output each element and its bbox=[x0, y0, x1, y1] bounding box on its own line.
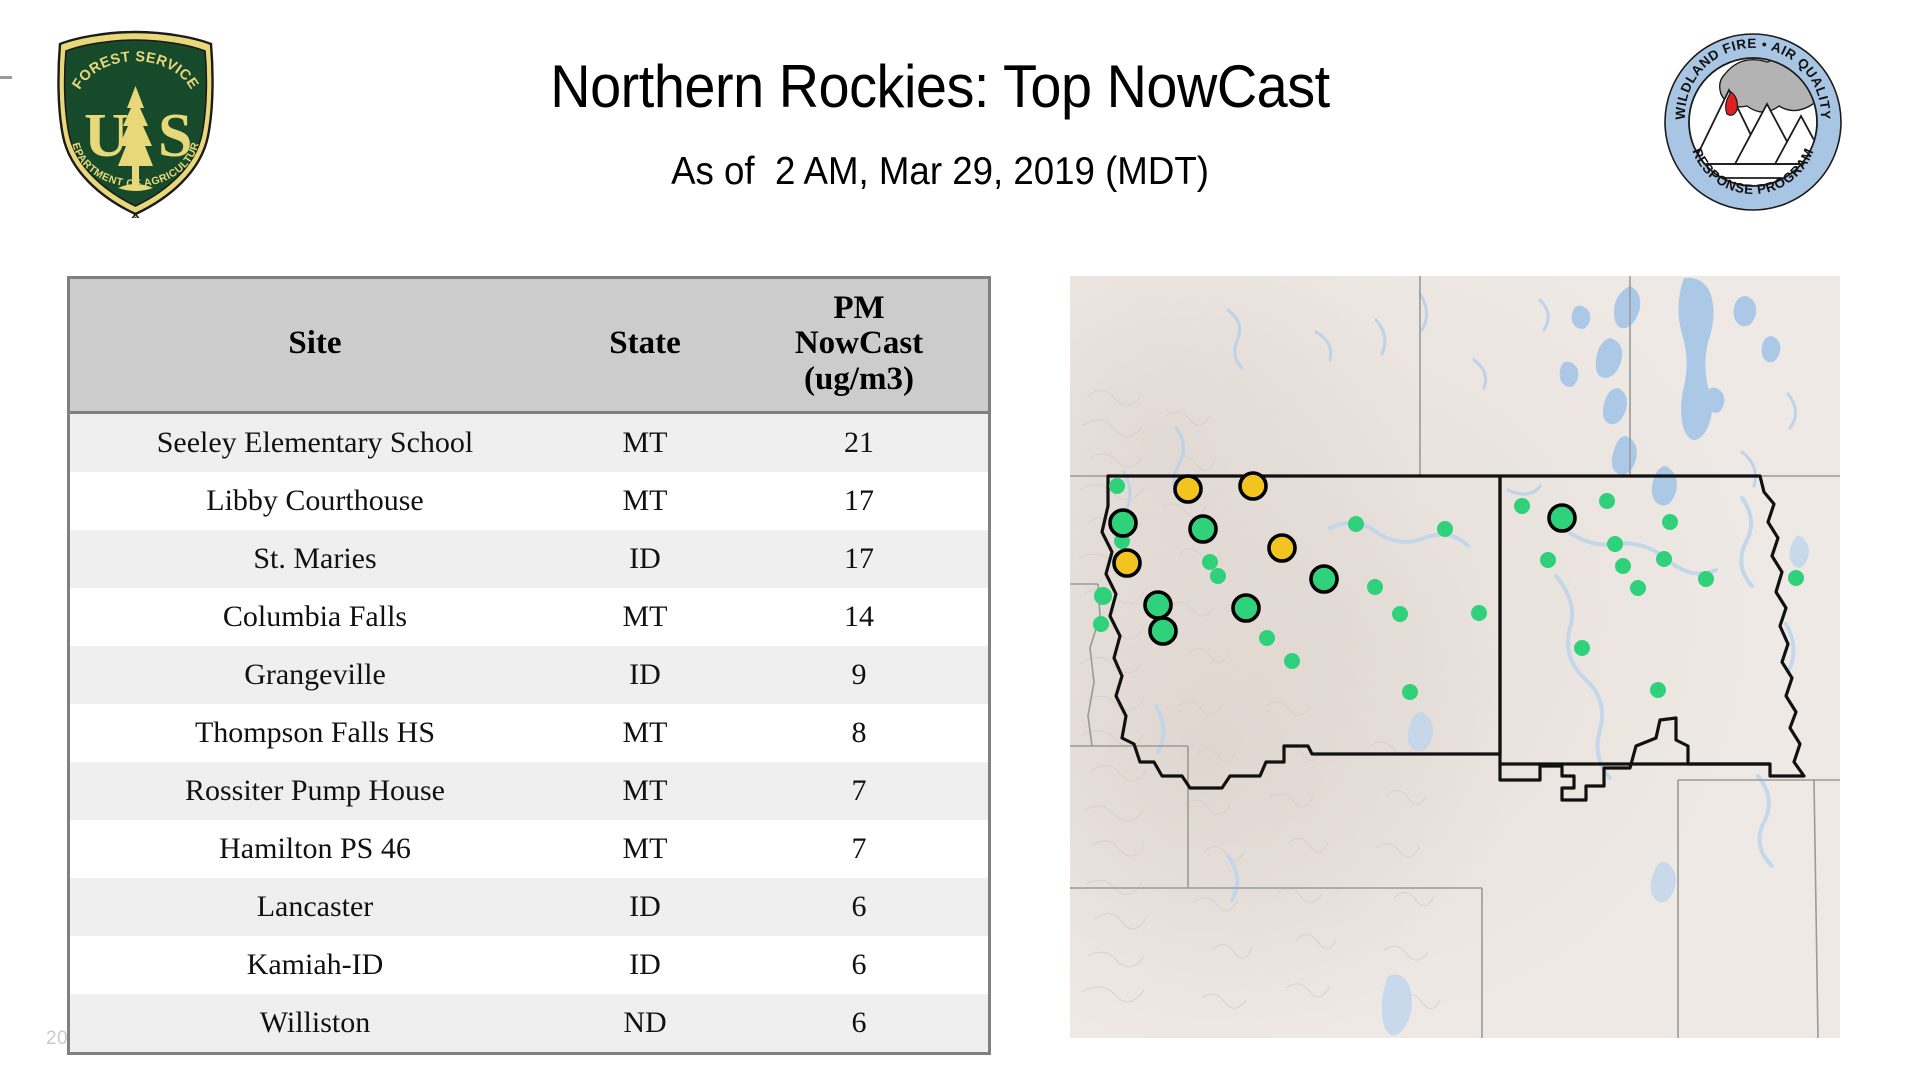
table-row: Thompson Falls HS MT 8 bbox=[70, 704, 988, 762]
cell-site: Libby Courthouse bbox=[70, 472, 560, 530]
cell-state: ID bbox=[560, 936, 730, 994]
page-subtitle: As of 2 AM, Mar 29, 2019 (MDT) bbox=[301, 150, 1579, 194]
edge-tick-mark bbox=[0, 76, 12, 79]
cell-pm: 6 bbox=[730, 936, 988, 994]
table-row: Williston ND 6 bbox=[70, 994, 988, 1052]
table-row: Seeley Elementary School MT 21 bbox=[70, 413, 988, 473]
cell-site: Lancaster bbox=[70, 878, 560, 936]
cell-site: Thompson Falls HS bbox=[70, 704, 560, 762]
table-body: Seeley Elementary School MT 21 Libby Cou… bbox=[70, 413, 988, 1053]
table-row: Columbia Falls MT 14 bbox=[70, 588, 988, 646]
table-row: Hamilton PS 46 MT 7 bbox=[70, 820, 988, 878]
table-header-row: Site State PM NowCast (ug/m3) bbox=[70, 279, 988, 413]
cell-state: MT bbox=[560, 413, 730, 473]
table-row: Rossiter Pump House MT 7 bbox=[70, 762, 988, 820]
table-row: Grangeville ID 9 bbox=[70, 646, 988, 704]
cell-state: ID bbox=[560, 878, 730, 936]
cell-pm: 7 bbox=[730, 820, 988, 878]
cell-state: MT bbox=[560, 820, 730, 878]
cell-pm: 14 bbox=[730, 588, 988, 646]
cell-site: Seeley Elementary School bbox=[70, 413, 560, 473]
cell-site: Williston bbox=[70, 994, 560, 1052]
pm-header-line-2: NowCast bbox=[730, 326, 988, 362]
wfaqrp-logo: WILDLAND FIRE • AIR QUALITY RESPONSE PRO… bbox=[1663, 32, 1843, 212]
cell-state: MT bbox=[560, 704, 730, 762]
column-header-state: State bbox=[560, 279, 730, 413]
cell-site: St. Maries bbox=[70, 530, 560, 588]
cell-pm: 21 bbox=[730, 413, 988, 473]
cell-state: MT bbox=[560, 588, 730, 646]
cell-site: Rossiter Pump House bbox=[70, 762, 560, 820]
cell-state: ID bbox=[560, 530, 730, 588]
cell-pm: 7 bbox=[730, 762, 988, 820]
cell-state: ID bbox=[560, 646, 730, 704]
table-row: Libby Courthouse MT 17 bbox=[70, 472, 988, 530]
pm-header-line-3: (ug/m3) bbox=[730, 362, 988, 398]
cell-site: Hamilton PS 46 bbox=[70, 820, 560, 878]
nowcast-table: Site State PM NowCast (ug/m3) Seeley Ele… bbox=[67, 276, 991, 1055]
pm-header-line-1: PM bbox=[730, 291, 988, 327]
cell-state: MT bbox=[560, 762, 730, 820]
cell-pm: 8 bbox=[730, 704, 988, 762]
table-row: St. Maries ID 17 bbox=[70, 530, 988, 588]
northern-rockies-monitor-map[interactable] bbox=[1070, 276, 1840, 1038]
table-row: Kamiah-ID ID 6 bbox=[70, 936, 988, 994]
column-header-pm-nowcast: PM NowCast (ug/m3) bbox=[730, 279, 988, 413]
forest-service-logo: FOREST SERVICE DEPARTMENT OF AGRICULTURE… bbox=[48, 28, 223, 218]
cell-state: MT bbox=[560, 472, 730, 530]
column-header-site: Site bbox=[70, 279, 560, 413]
cell-site: Kamiah-ID bbox=[70, 936, 560, 994]
svg-text:S: S bbox=[158, 102, 192, 170]
cell-pm: 17 bbox=[730, 530, 988, 588]
page-title: Northern Rockies: Top NowCast bbox=[308, 52, 1573, 121]
cell-pm: 6 bbox=[730, 994, 988, 1052]
slide-canvas: FOREST SERVICE DEPARTMENT OF AGRICULTURE… bbox=[0, 0, 1920, 1080]
cell-site: Grangeville bbox=[70, 646, 560, 704]
cell-state: ND bbox=[560, 994, 730, 1052]
cell-site: Columbia Falls bbox=[70, 588, 560, 646]
cell-pm: 17 bbox=[730, 472, 988, 530]
cell-pm: 9 bbox=[730, 646, 988, 704]
cell-pm: 6 bbox=[730, 878, 988, 936]
table-row: Lancaster ID 6 bbox=[70, 878, 988, 936]
